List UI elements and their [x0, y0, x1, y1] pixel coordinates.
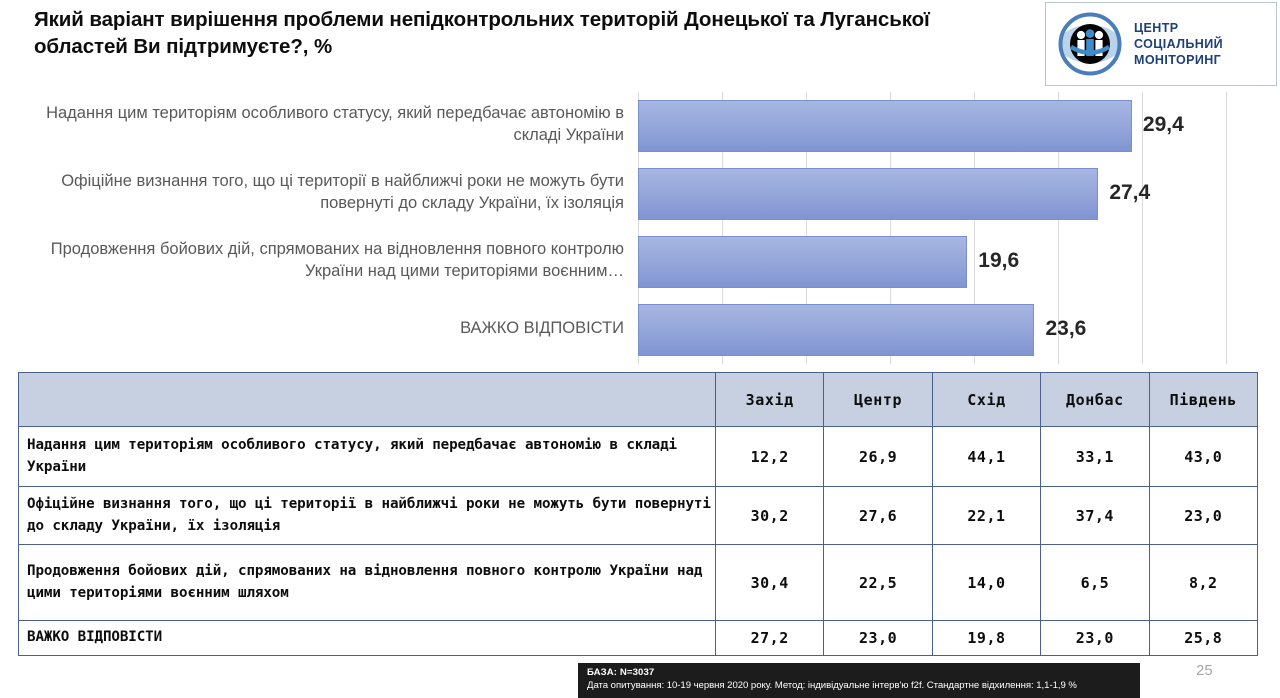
table-row-label: Продовження бойових дій, спрямованих на … — [19, 545, 716, 621]
chart-bar — [638, 100, 1132, 152]
table-cell-value: 8,2 — [1149, 545, 1257, 621]
chart-bar-value-label: 23,6 — [1045, 317, 1086, 341]
table-cell-value: 23,0 — [1041, 621, 1149, 656]
table-column-header: Донбас — [1041, 373, 1149, 427]
table-cell-value: 25,8 — [1149, 621, 1257, 656]
chart-gridline — [1226, 92, 1227, 364]
logo-line-2: СОЦІАЛЬНИЙ — [1134, 36, 1223, 52]
table-cell-value: 26,9 — [824, 427, 932, 487]
table-cell-value: 33,1 — [1041, 427, 1149, 487]
chart-category-label: Продовження бойових дій, спрямованих на … — [24, 239, 624, 283]
chart-bar — [638, 236, 967, 288]
regional-breakdown-table: ЗахідЦентрСхідДонбасПівдень Надання цим … — [18, 372, 1258, 656]
chart-bar-value-label: 29,4 — [1143, 113, 1184, 137]
table-row: Продовження бойових дій, спрямованих на … — [19, 545, 1258, 621]
chart-category-label: ВАЖКО ВІДПОВІСТИ — [24, 318, 624, 340]
table-row-label: ВАЖКО ВІДПОВІСТИ — [19, 621, 716, 656]
table-cell-value: 37,4 — [1041, 487, 1149, 545]
table-row: Надання цим територіям особливого статус… — [19, 427, 1258, 487]
table-column-header: Схід — [932, 373, 1040, 427]
chart-bar — [638, 168, 1098, 220]
table-cell-value: 27,6 — [824, 487, 932, 545]
table-column-header: Південь — [1149, 373, 1257, 427]
table-cell-value: 23,0 — [824, 621, 932, 656]
table-cell-value: 22,1 — [932, 487, 1040, 545]
table-row-label: Офіційне визнання того, що ці території … — [19, 487, 716, 545]
chart-bar-value-label: 19,6 — [978, 249, 1019, 273]
table-header-row: ЗахідЦентрСхідДонбасПівдень — [19, 373, 1258, 427]
table-column-header: Захід — [716, 373, 824, 427]
table-cell-value: 44,1 — [932, 427, 1040, 487]
table-cell-value: 22,5 — [824, 545, 932, 621]
footer-base-text: БАЗА: N=3037 — [587, 667, 1140, 679]
table-cell-value: 30,2 — [716, 487, 824, 545]
table-row: Офіційне визнання того, що ці території … — [19, 487, 1258, 545]
logo: ЦЕНТР СОЦІАЛЬНИЙ МОНІТОРИНГ — [1045, 2, 1277, 86]
page-number: 25 — [1196, 662, 1213, 679]
table-corner-cell — [19, 373, 716, 427]
table-cell-value: 12,2 — [716, 427, 824, 487]
table-cell-value: 43,0 — [1149, 427, 1257, 487]
table-cell-value: 30,4 — [716, 545, 824, 621]
page-title: Який варіант вирішення проблеми непідкон… — [34, 6, 1014, 61]
bar-chart: Надання цим територіям особливого статус… — [0, 92, 1280, 364]
table-cell-value: 23,0 — [1149, 487, 1257, 545]
footer-note-text: Дата опитування: 10-19 червня 2020 року.… — [587, 680, 1140, 693]
footer-info-bar: БАЗА: N=3037 Дата опитування: 10-19 черв… — [578, 663, 1140, 698]
chart-bar — [638, 304, 1034, 356]
table-head: ЗахідЦентрСхідДонбасПівдень — [19, 373, 1258, 427]
table-column-header: Центр — [824, 373, 932, 427]
chart-category-label: Офіційне визнання того, що ці території … — [24, 171, 624, 215]
logo-text: ЦЕНТР СОЦІАЛЬНИЙ МОНІТОРИНГ — [1134, 20, 1223, 68]
table-row-label: Надання цим територіям особливого статус… — [19, 427, 716, 487]
logo-line-3: МОНІТОРИНГ — [1134, 52, 1223, 68]
chart-category-label: Надання цим територіям особливого статус… — [24, 103, 624, 147]
table-cell-value: 6,5 — [1041, 545, 1149, 621]
table-row: ВАЖКО ВІДПОВІСТИ27,223,019,823,025,8 — [19, 621, 1258, 656]
table-cell-value: 27,2 — [716, 621, 824, 656]
logo-line-1: ЦЕНТР — [1134, 20, 1223, 36]
chart-bar-value-label: 27,4 — [1109, 181, 1150, 205]
table-cell-value: 19,8 — [932, 621, 1040, 656]
logo-emblem-icon — [1058, 12, 1122, 76]
chart-category-labels: Надання цим територіям особливого статус… — [24, 92, 624, 364]
table-body: Надання цим територіям особливого статус… — [19, 427, 1258, 656]
chart-plot-area: 29,427,419,623,6 — [638, 92, 1226, 364]
table-cell-value: 14,0 — [932, 545, 1040, 621]
